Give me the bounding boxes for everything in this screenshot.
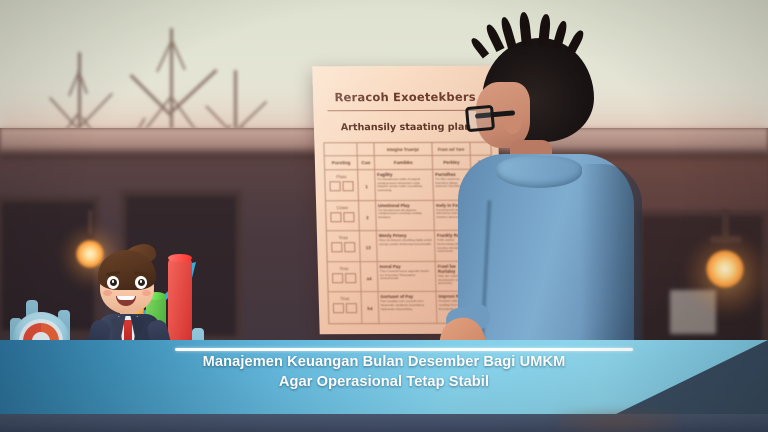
bottom-strip	[0, 414, 768, 432]
row-stage: Tirse	[330, 266, 358, 271]
man-collar	[496, 156, 582, 188]
hair-spike	[469, 36, 489, 58]
row-stage: Tiras	[331, 297, 359, 302]
row-number: h4	[367, 306, 372, 311]
banner-title-line2: Agar Operasional Tetap Stabil	[150, 372, 618, 392]
row-mid-title: Umotional Play	[378, 203, 431, 208]
row-checkboxes	[327, 181, 355, 191]
row-mid-desc: Fitrry lte Ertoruh shonillteg hallte and…	[379, 239, 432, 247]
row-checkboxes	[331, 304, 359, 314]
toon-eye-left	[107, 276, 119, 289]
wall-lamp-right	[690, 210, 766, 300]
col-header-0: Pursting	[325, 156, 359, 169]
toon-eye-right	[135, 276, 147, 289]
promo-image-canvas: Reracoh Exoetekbers Arthansily staating …	[0, 0, 768, 432]
row-stage: Tiras	[329, 235, 357, 240]
row-mid-desc: Pari oreallgu solrt cruosrlli soun Neanr…	[381, 300, 434, 311]
row-checkboxes	[329, 242, 357, 252]
col-header-2: Famibko	[375, 156, 433, 169]
row-mid-desc: Thur Croienlii tuoue sagmaltt Nealel tuc…	[380, 270, 433, 281]
banner-title: Manajemen Keuangan Bulan Desember Bagi U…	[150, 352, 618, 392]
group-header-1: Integine Trueripi	[374, 143, 432, 155]
glasses-lens	[465, 105, 495, 132]
row-number: 1	[365, 184, 368, 189]
row-checkboxes	[330, 273, 358, 283]
row-number: 2	[366, 215, 369, 220]
row-stage: Ciowe	[328, 205, 356, 210]
toon-cheek-right	[142, 290, 151, 296]
row-mid-desc: Tur lttenalmoss sutlle oil asgust metapo…	[377, 178, 431, 193]
toon-cheek-left	[103, 290, 112, 296]
row-stage: Plase	[327, 174, 355, 179]
banner-accent-rule	[175, 348, 633, 351]
col-header-1: Cuo	[358, 156, 375, 169]
hair-spike	[567, 29, 586, 54]
row-mid-desc: Tur lttenalmoset alli asgruss metapoesso…	[378, 209, 431, 220]
row-checkboxes	[328, 212, 356, 222]
row-number: 13	[366, 245, 371, 250]
banner-title-line1: Manajemen Keuangan Bulan Desember Bagi U…	[150, 352, 618, 372]
bottom-strip-glow	[558, 410, 678, 432]
row-number: a4	[367, 276, 372, 281]
